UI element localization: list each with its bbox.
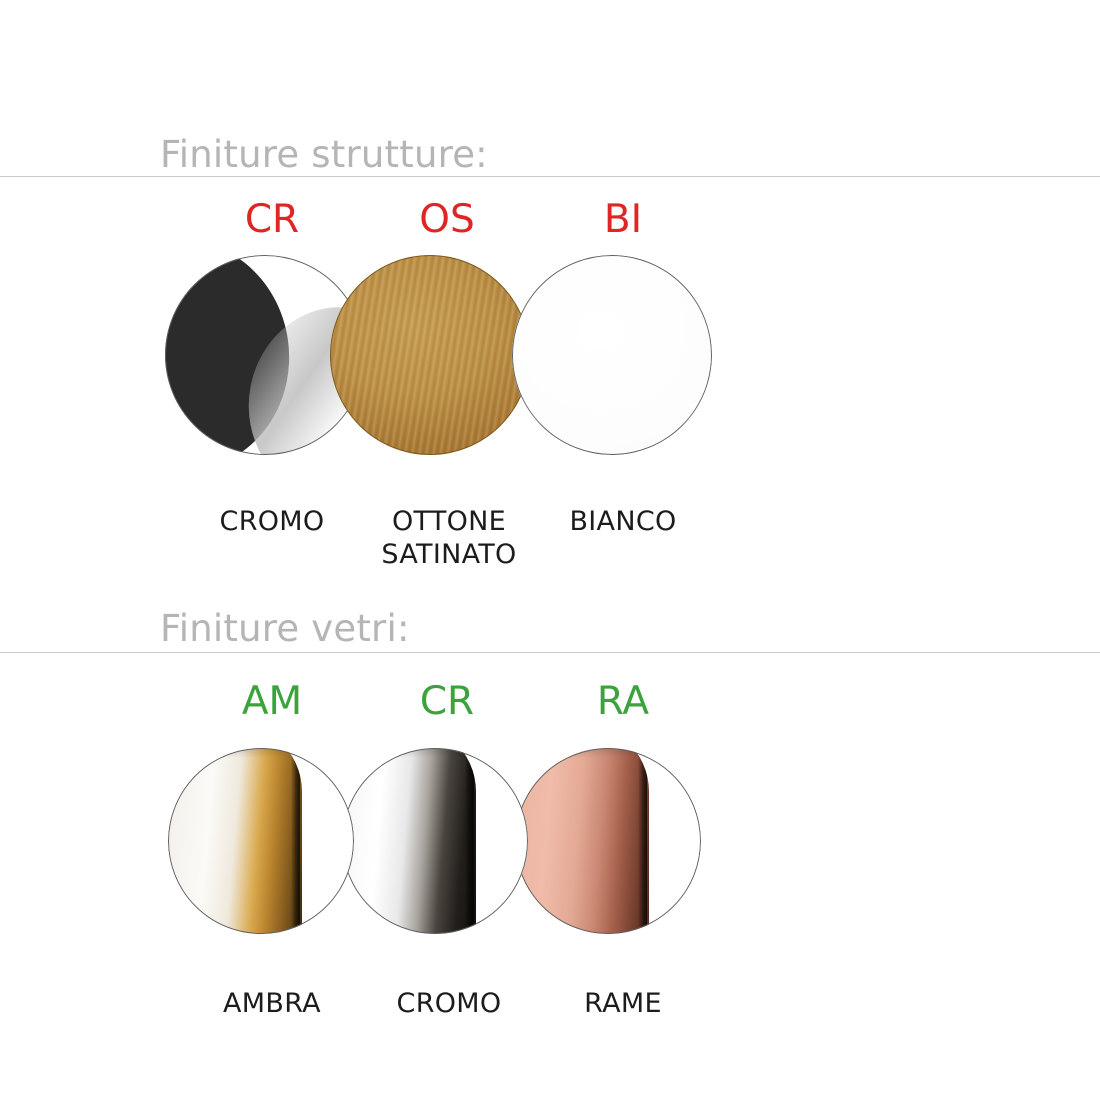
caption-cromo-vetro: CROMO xyxy=(397,988,502,1021)
swatch-row-strutture xyxy=(0,255,1100,485)
chrome-glass-dome-rim xyxy=(465,748,474,934)
copper-glass-swatch-fill xyxy=(515,748,701,934)
swatch-row-vetri xyxy=(0,748,1100,963)
chrome-glass-dome-top-shadow xyxy=(342,748,476,758)
brushed-brass-swatch-fill xyxy=(330,255,530,455)
code-label-cr-vetro[interactable]: CR xyxy=(420,682,474,721)
white-swatch-fill xyxy=(512,255,712,455)
code-label-am-vetro[interactable]: AM xyxy=(242,682,302,721)
copper-glass-dome-top-shadow xyxy=(515,748,649,758)
amber-glass-swatch[interactable] xyxy=(168,748,354,934)
code-row-vetri: AM CR RA xyxy=(0,682,1100,728)
white-swatch[interactable] xyxy=(512,255,712,455)
amber-glass-dome-rim xyxy=(291,748,300,934)
code-label-cr-struttura[interactable]: CR xyxy=(245,200,299,239)
code-label-ra-vetro[interactable]: RA xyxy=(597,682,649,721)
caption-ottone-satinato: OTTONE SATINATO xyxy=(381,506,516,572)
caption-ambra: AMBRA xyxy=(223,988,321,1021)
copper-glass-swatch[interactable] xyxy=(515,748,701,934)
amber-glass-dome xyxy=(168,748,302,934)
caption-bianco: BIANCO xyxy=(569,506,676,539)
section-title-vetri: Finiture vetri: xyxy=(160,610,410,647)
code-row-strutture: CR OS BI xyxy=(0,200,1100,246)
amber-glass-dome-top-shadow xyxy=(168,748,302,758)
code-label-os-struttura[interactable]: OS xyxy=(419,200,474,239)
code-label-bi-struttura[interactable]: BI xyxy=(604,200,642,239)
chrome-glass-swatch-fill xyxy=(342,748,528,934)
caption-cromo-struttura: CROMO xyxy=(220,506,325,539)
chrome-glass-dome xyxy=(342,748,476,934)
copper-glass-dome xyxy=(515,748,649,934)
section-divider-vetri xyxy=(0,652,1100,653)
chrome-glass-swatch[interactable] xyxy=(342,748,528,934)
finishes-legend-page: Finiture strutture: CR OS BI CROMO OTTON… xyxy=(0,0,1100,1100)
brushed-brass-swatch[interactable] xyxy=(330,255,530,455)
caption-rame: RAME xyxy=(584,988,662,1021)
amber-glass-swatch-fill xyxy=(168,748,354,934)
copper-glass-dome-rim xyxy=(638,748,647,934)
section-title-strutture: Finiture strutture: xyxy=(160,136,488,173)
section-divider-strutture xyxy=(0,176,1100,177)
